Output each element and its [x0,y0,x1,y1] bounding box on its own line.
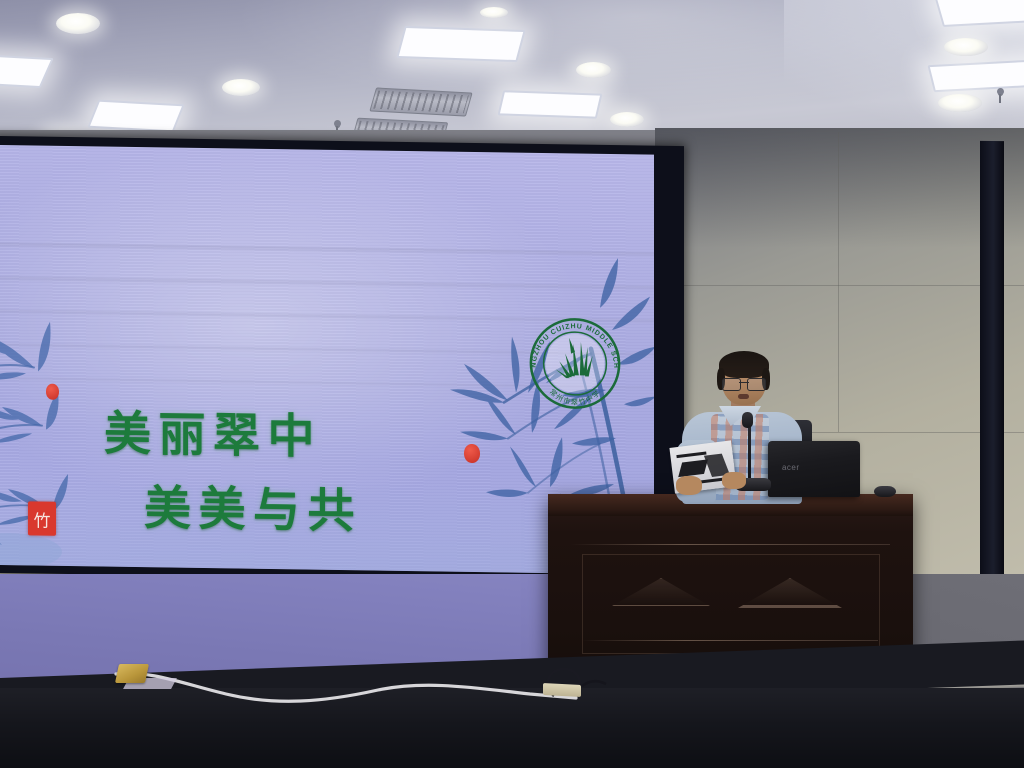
laptop[interactable]: acer [768,441,860,497]
ceiling-down-light [480,7,508,18]
ceiling-down-light [938,94,982,112]
ceiling-panel-light [396,26,525,62]
school-logo: CHANGZHOU CUIZHU MIDDLE SCHOOL 常州市翠竹中学 [526,314,624,413]
red-seal-stamp: 竹 [28,501,56,535]
red-ink-dot [46,384,59,400]
slide-title-line-2: 美美与共 [144,469,362,541]
slide-title-line-1: 美丽翠中 [104,395,322,467]
red-ink-dot [464,444,480,463]
laptop-brand-label: acer [782,463,799,472]
floor-outlet-box[interactable] [115,664,149,683]
ceiling-air-vent [369,87,472,116]
podium-trim-line [570,544,890,545]
extension-cable [110,660,580,720]
ceiling-down-light [222,79,260,96]
speaker-hand [722,472,746,489]
ceiling-down-light [56,13,100,34]
speaker-hand [676,476,702,495]
power-strip[interactable] [543,683,581,697]
ceiling-down-light [576,62,611,78]
glasses-icon [722,378,766,390]
ceiling-down-light [610,112,644,127]
wall-seam [838,132,839,432]
ceiling-sprinkler-icon [997,88,1004,95]
computer-mouse[interactable] [874,486,896,497]
ceiling-panel-light [935,0,1024,27]
ceiling-panel-light [498,90,603,118]
ceiling-down-light [944,38,988,56]
led-display-right-bezel [980,141,1004,578]
wall-seam [675,285,1024,286]
right-wall-shadow [655,128,1024,248]
microphone-head [742,412,753,428]
speaker-mouth [738,394,749,399]
conference-hall-photo: 竹 美丽翠中 美美与共 CHANGZHOU CUIZHU MIDDLE SCHO… [0,0,1024,768]
ceiling-panel-light [87,100,184,133]
ceiling-sprinkler-icon [334,120,341,127]
ceiling-panel-light [927,59,1024,92]
